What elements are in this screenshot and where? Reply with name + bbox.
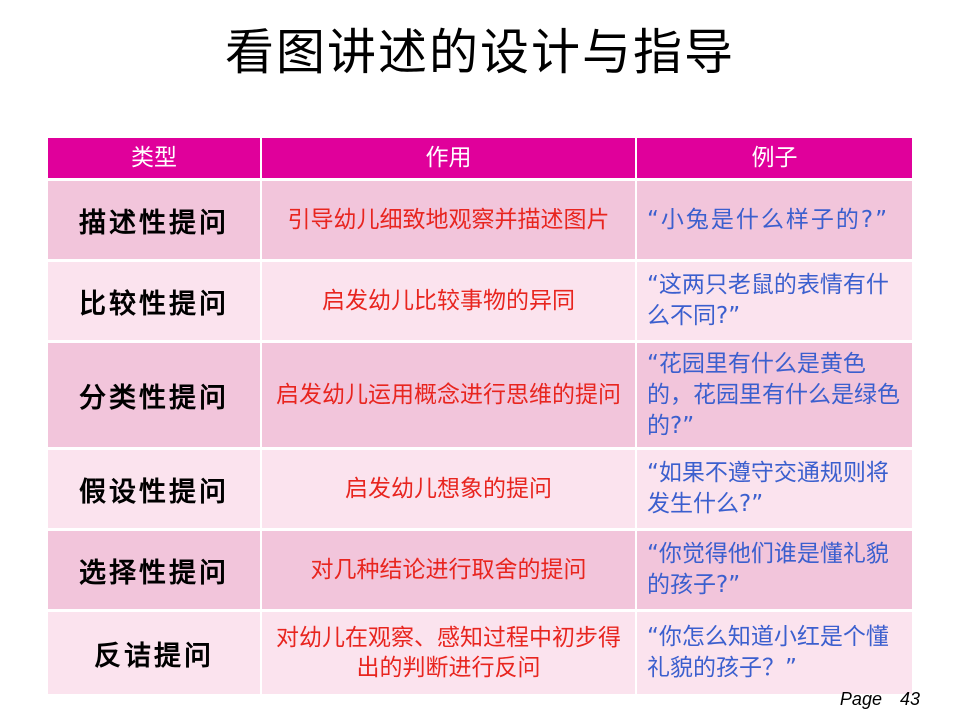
table-body: 描述性提问 引导幼儿细致地观察并描述图片 “小兔是什么样子的?” 比较性提问 启… bbox=[48, 181, 912, 697]
question-types-table: 类型 作用 例子 描述性提问 引导幼儿细致地观察并描述图片 “小兔是什么样子的?… bbox=[48, 138, 912, 697]
cell-type: 选择性提问 bbox=[48, 531, 262, 612]
cell-example: “如果不遵守交通规则将发生什么?” bbox=[637, 450, 912, 531]
cell-type: 反诘提问 bbox=[48, 612, 262, 697]
table-row: 反诘提问 对幼儿在观察、感知过程中初步得出的判断进行反问 “你怎么知道小红是个懂… bbox=[48, 612, 912, 697]
table-row: 假设性提问 启发幼儿想象的提问 “如果不遵守交通规则将发生什么?” bbox=[48, 450, 912, 531]
slide-footer: Page 43 bbox=[840, 689, 920, 710]
cell-use: 启发幼儿比较事物的异同 bbox=[262, 262, 637, 343]
cell-example: “你怎么知道小红是个懂礼貌的孩子？” bbox=[637, 612, 912, 697]
page-number: 43 bbox=[900, 689, 920, 710]
table-header-row: 类型 作用 例子 bbox=[48, 138, 912, 181]
cell-type: 假设性提问 bbox=[48, 450, 262, 531]
cell-example: “你觉得他们谁是懂礼貌的孩子?” bbox=[637, 531, 912, 612]
cell-use: 启发幼儿想象的提问 bbox=[262, 450, 637, 531]
table-row: 选择性提问 对几种结论进行取舍的提问 “你觉得他们谁是懂礼貌的孩子?” bbox=[48, 531, 912, 612]
cell-use: 启发幼儿运用概念进行思维的提问 bbox=[262, 343, 637, 450]
column-header-type: 类型 bbox=[48, 138, 262, 181]
table-row: 分类性提问 启发幼儿运用概念进行思维的提问 “花园里有什么是黄色的，花园里有什么… bbox=[48, 343, 912, 450]
column-header-use: 作用 bbox=[262, 138, 637, 181]
question-types-table-wrapper: 类型 作用 例子 描述性提问 引导幼儿细致地观察并描述图片 “小兔是什么样子的?… bbox=[48, 138, 912, 697]
page-label: Page bbox=[840, 689, 882, 710]
cell-example: “小兔是什么样子的?” bbox=[637, 181, 912, 262]
cell-use: 对几种结论进行取舍的提问 bbox=[262, 531, 637, 612]
page-title: 看图讲述的设计与指导 bbox=[0, 22, 960, 84]
cell-example: “这两只老鼠的表情有什么不同?” bbox=[637, 262, 912, 343]
cell-type: 描述性提问 bbox=[48, 181, 262, 262]
cell-type: 比较性提问 bbox=[48, 262, 262, 343]
column-header-example: 例子 bbox=[637, 138, 912, 181]
table-header: 类型 作用 例子 bbox=[48, 138, 912, 181]
cell-use: 对幼儿在观察、感知过程中初步得出的判断进行反问 bbox=[262, 612, 637, 697]
cell-example: “花园里有什么是黄色的，花园里有什么是绿色的?” bbox=[637, 343, 912, 450]
cell-type: 分类性提问 bbox=[48, 343, 262, 450]
table-row: 描述性提问 引导幼儿细致地观察并描述图片 “小兔是什么样子的?” bbox=[48, 181, 912, 262]
cell-use: 引导幼儿细致地观察并描述图片 bbox=[262, 181, 637, 262]
table-row: 比较性提问 启发幼儿比较事物的异同 “这两只老鼠的表情有什么不同?” bbox=[48, 262, 912, 343]
